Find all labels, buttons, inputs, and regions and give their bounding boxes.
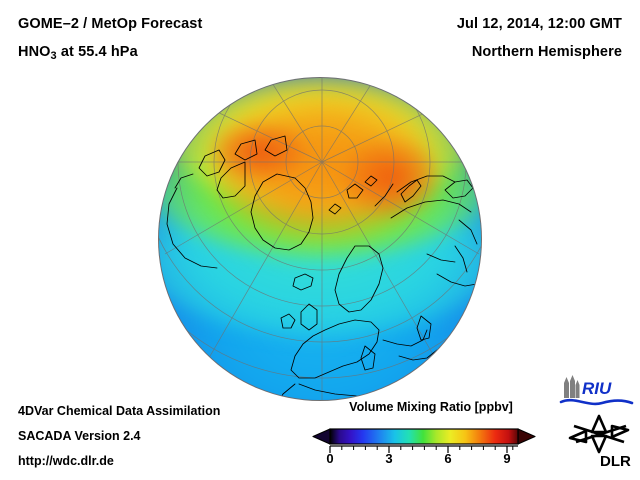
riu-wordmark: RIU (582, 379, 612, 398)
colorbar-graphic: 0 3 6 9 (310, 418, 538, 470)
species-level-label: HNO3 at 55.4 hPa (18, 44, 138, 62)
datetime-label: Jul 12, 2014, 12:00 GMT (457, 16, 622, 32)
riu-towers-icon (564, 375, 580, 398)
dlr-pinwheel-icon (570, 416, 628, 452)
colorbar-tick-label-6: 6 (444, 451, 451, 466)
footer-line-1: 4DVar Chemical Data Assimilation (18, 404, 220, 418)
riu-wave-icon (561, 400, 632, 404)
species-formula-prefix: HNO (18, 44, 51, 60)
footer-line-2: SACADA Version 2.4 (18, 429, 141, 443)
colorbar-low-arrow (313, 429, 330, 444)
dlr-logo: DLR (566, 412, 634, 470)
colorbar-minor-ticks (342, 446, 513, 450)
colorbar-high-arrow (518, 429, 535, 444)
globe-disc (159, 78, 481, 400)
colorbar-title: Volume Mixing Ratio [ppbv] (324, 400, 538, 414)
colorbar-tick-label-9: 9 (503, 451, 510, 466)
footer-line-3[interactable]: http://wdc.dlr.de (18, 454, 114, 468)
globe-map (159, 78, 481, 400)
colorbar-tick-label-3: 3 (385, 451, 392, 466)
species-level-suffix: at 55.4 hPa (57, 44, 138, 60)
globe-overlay (159, 78, 481, 400)
page-title: GOME–2 / MetOp Forecast (18, 16, 202, 32)
colorbar: Volume Mixing Ratio [ppbv] (310, 400, 538, 470)
dlr-wordmark: DLR (600, 453, 631, 470)
graticule (159, 78, 481, 400)
colorbar-ticks (330, 446, 507, 453)
riu-logo: RIU (558, 374, 634, 408)
colorbar-tick-label-0: 0 (326, 451, 333, 466)
colorbar-gradient (330, 429, 518, 444)
hemisphere-label: Northern Hemisphere (472, 44, 622, 60)
